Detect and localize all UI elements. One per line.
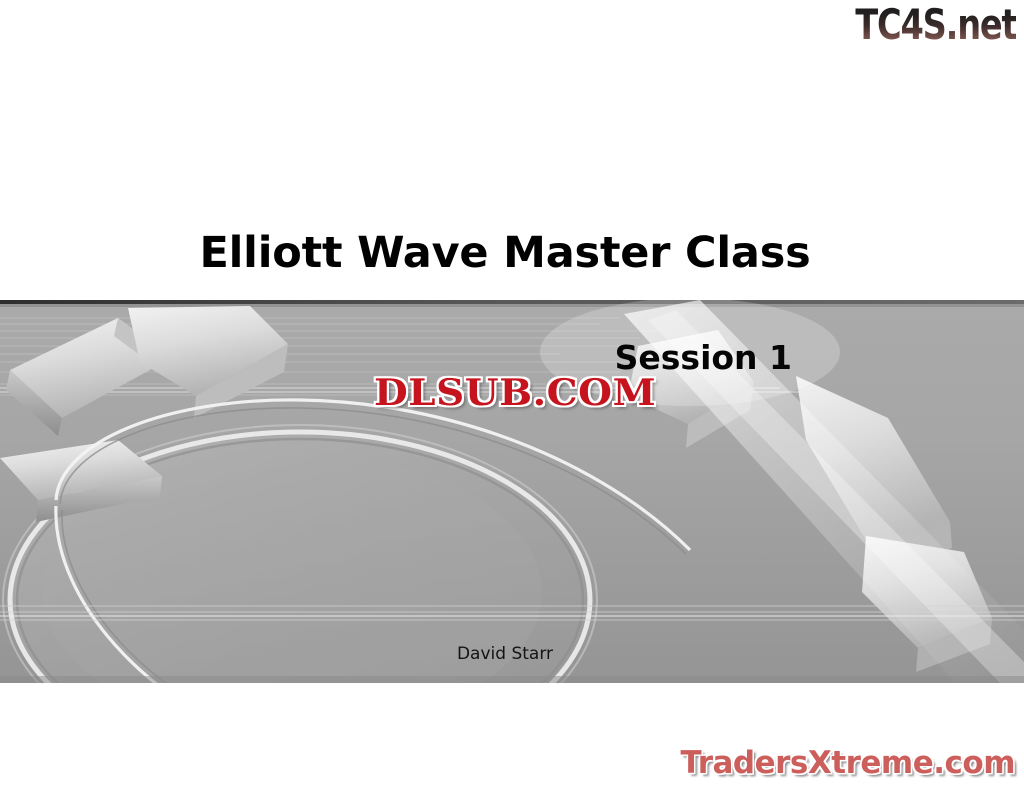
dlsub-watermark: DLSUB.COM: [374, 372, 656, 414]
presentation-slide: TC4S.net Elliott Wave Master Class: [0, 0, 1024, 791]
presenter-name: David Starr: [0, 643, 1024, 665]
tradersxtreme-footer-logo: TradersXtreme.com: [680, 744, 1015, 782]
page-title: Elliott Wave Master Class: [0, 228, 1024, 278]
tc4s-site-logo: TC4S.net: [855, 2, 1016, 48]
